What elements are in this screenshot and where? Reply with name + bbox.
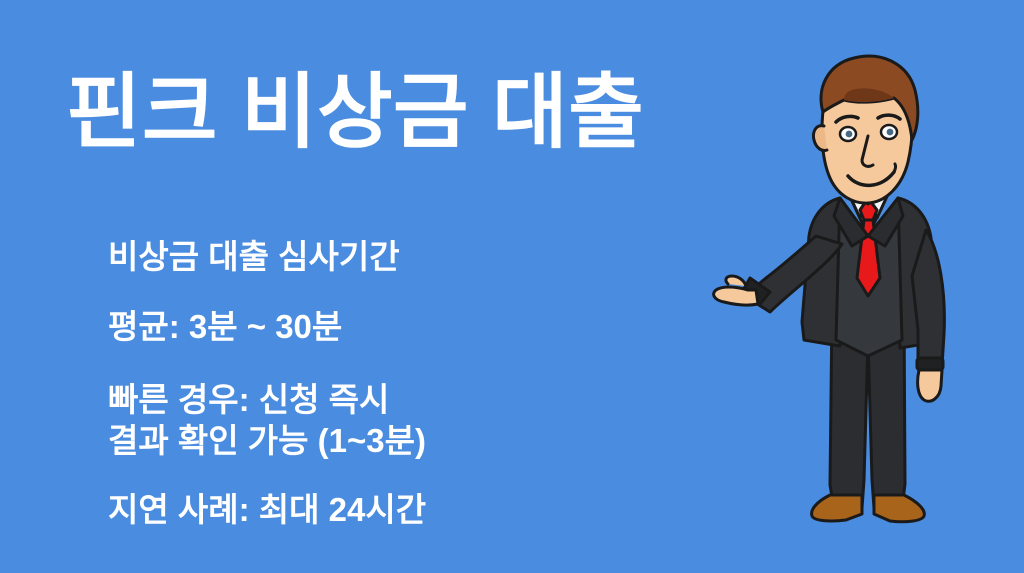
hand-right — [918, 370, 942, 401]
shoe-right — [874, 495, 924, 522]
hand-left-open-palm — [714, 287, 758, 305]
body-block-delay-case: 지연 사례: 최대 24시간 — [108, 489, 426, 530]
body-block-fast-case: 빠른 경우: 신청 즉시 결과 확인 가능 (1~3분) — [108, 379, 426, 461]
body-line: 평균: 3분 ~ 30분 — [108, 306, 342, 347]
shoe-left — [812, 495, 862, 521]
thumb-left — [726, 276, 746, 286]
businessman-svg — [712, 40, 1024, 573]
iris-left — [846, 131, 853, 138]
body-line: 빠른 경우: 신청 즉시 — [108, 379, 426, 420]
page-title: 핀크 비상금 대출 — [66, 72, 644, 154]
mouth-corner — [894, 164, 896, 172]
body-block-average: 평균: 3분 ~ 30분 — [108, 306, 342, 347]
slide-canvas: 핀크 비상금 대출 비상금 대출 심사기간 평균: 3분 ~ 30분 빠른 경우… — [0, 0, 1024, 573]
body-line: 결과 확인 가능 (1~3분) — [108, 420, 426, 461]
businessman-illustration — [712, 40, 1024, 573]
body-line: 지연 사례: 최대 24시간 — [108, 489, 426, 530]
body-block-review-period: 비상금 대출 심사기간 — [108, 236, 400, 277]
body-line: 비상금 대출 심사기간 — [108, 236, 400, 277]
cuff-right — [917, 358, 943, 370]
iris-right — [887, 129, 894, 136]
